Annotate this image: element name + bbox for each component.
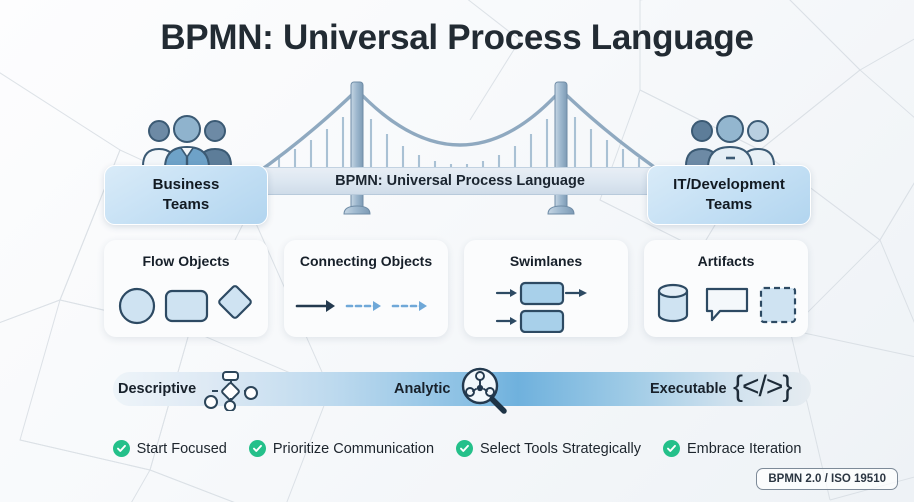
checklist-label: Prioritize Communication bbox=[273, 441, 434, 457]
checklist-label: Embrace Iteration bbox=[687, 441, 801, 457]
card-flow-objects-icons bbox=[104, 275, 268, 337]
best-practices-checklist: Start Focused Prioritize Communication S… bbox=[0, 440, 914, 457]
card-artifacts-title: Artifacts bbox=[698, 253, 755, 269]
card-flow-objects[interactable]: Flow Objects bbox=[104, 240, 268, 337]
card-swimlanes-title: Swimlanes bbox=[510, 253, 582, 269]
suspension-bridge-graphic bbox=[245, 72, 675, 232]
process-node-diagram-icon bbox=[204, 371, 258, 411]
business-teams-line2: Teams bbox=[163, 195, 209, 215]
circle-event-icon bbox=[120, 289, 154, 323]
card-swimlanes-icons bbox=[464, 275, 628, 337]
dashed-arrow-icon bbox=[393, 301, 427, 311]
magnifier-network-icon bbox=[459, 366, 509, 414]
card-connecting-objects-icons bbox=[284, 275, 448, 337]
card-artifacts[interactable]: Artifacts bbox=[644, 240, 808, 337]
spectrum-label-descriptive: Descriptive bbox=[118, 381, 196, 397]
it-teams-line2: Teams bbox=[706, 195, 752, 215]
check-circle-icon bbox=[456, 440, 473, 457]
list-item[interactable]: Start Focused bbox=[113, 440, 227, 457]
checklist-label: Start Focused bbox=[137, 441, 227, 457]
card-connecting-objects-title: Connecting Objects bbox=[300, 253, 432, 269]
it-teams-line1: IT/Development bbox=[673, 175, 785, 195]
list-item[interactable]: Prioritize Communication bbox=[249, 440, 434, 457]
lane-row-arrow-box-arrow-icon bbox=[497, 283, 587, 304]
card-connecting-objects[interactable]: Connecting Objects bbox=[284, 240, 448, 337]
lane-row-arrow-box-icon bbox=[497, 311, 563, 332]
business-teams-box[interactable]: Business Teams bbox=[104, 165, 268, 225]
it-people-icon bbox=[682, 112, 778, 168]
it-development-teams-box[interactable]: IT/Development Teams bbox=[647, 165, 811, 225]
card-swimlanes[interactable]: Swimlanes bbox=[464, 240, 628, 337]
check-circle-icon bbox=[663, 440, 680, 457]
dashed-arrow-icon bbox=[347, 301, 381, 311]
annotation-speech-bubble-icon bbox=[707, 289, 747, 320]
code-braces-icon: {</>} bbox=[733, 370, 791, 404]
standard-badge: BPMN 2.0 / ISO 19510 bbox=[756, 468, 898, 490]
card-flow-objects-title: Flow Objects bbox=[142, 253, 229, 269]
spectrum-label-analytic: Analytic bbox=[394, 381, 450, 397]
business-teams-line1: Business bbox=[153, 175, 220, 195]
check-circle-icon bbox=[249, 440, 266, 457]
card-artifacts-icons bbox=[644, 275, 808, 337]
solid-arrow-icon bbox=[297, 300, 335, 312]
rounded-rect-task-icon bbox=[166, 291, 207, 321]
check-circle-icon bbox=[113, 440, 130, 457]
spectrum-label-executable: Executable bbox=[650, 381, 727, 397]
infographic-canvas: BPMN: Universal Process Language bbox=[0, 0, 914, 502]
list-item[interactable]: Embrace Iteration bbox=[663, 440, 801, 457]
diamond-gateway-icon bbox=[218, 285, 252, 319]
page-title: BPMN: Universal Process Language bbox=[0, 18, 914, 58]
business-people-icon bbox=[139, 112, 235, 168]
dashed-group-square-icon bbox=[761, 288, 795, 322]
list-item[interactable]: Select Tools Strategically bbox=[456, 440, 641, 457]
database-cylinder-icon bbox=[659, 285, 687, 321]
checklist-label: Select Tools Strategically bbox=[480, 441, 641, 457]
